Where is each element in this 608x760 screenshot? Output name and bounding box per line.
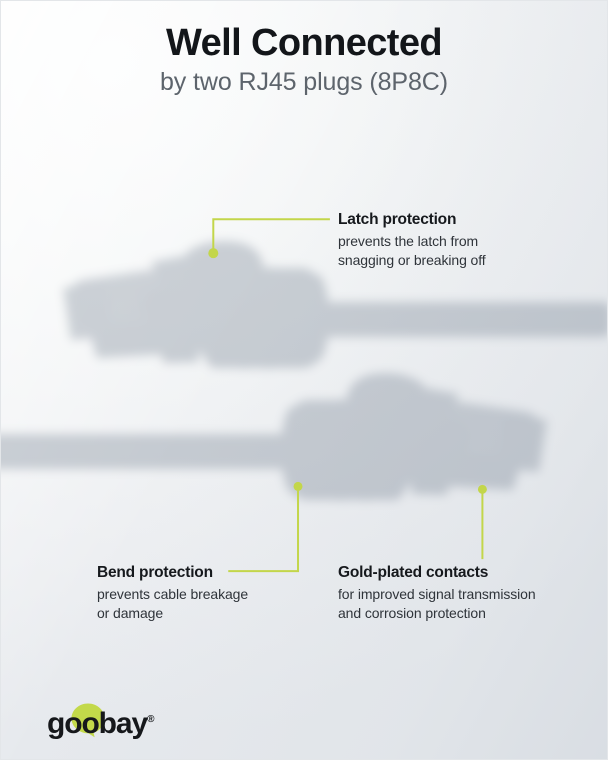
callout-line-2: and corrosion protection xyxy=(338,604,578,624)
page-title: Well Connected xyxy=(1,23,607,63)
gold-contacts-top xyxy=(105,281,153,295)
leader-dot-bend xyxy=(294,482,303,491)
callout-line-2: or damage xyxy=(97,604,312,624)
registered-trademark-symbol: ® xyxy=(147,714,154,725)
leader-dot-gold xyxy=(478,485,487,494)
callout-line-2: snagging or breaking off xyxy=(338,251,568,271)
callout-gold-plated-contacts: Gold-plated contacts for improved signal… xyxy=(338,564,578,624)
logo-wordmark: goobay® xyxy=(47,707,154,740)
product-photo xyxy=(1,1,608,760)
infographic-canvas: Well Connected by two RJ45 plugs (8P8C) … xyxy=(0,0,608,760)
logo-text: goobay xyxy=(47,707,147,740)
leader-line-bend xyxy=(228,486,298,571)
gold-contacts-bottom xyxy=(457,413,505,427)
callout-latch-protection: Latch protection prevents the latch from… xyxy=(338,211,568,271)
goobay-logo: goobay® xyxy=(47,703,154,737)
plug-bottom xyxy=(1,368,547,495)
callout-line-1: for improved signal transmission xyxy=(338,585,578,605)
callout-leader-lines xyxy=(1,1,607,759)
callout-heading: Gold-plated contacts xyxy=(338,564,578,583)
callout-line-1: prevents the latch from xyxy=(338,232,568,252)
callout-heading: Bend protection xyxy=(97,564,312,583)
callout-heading: Latch protection xyxy=(338,211,568,230)
leader-line-latch xyxy=(213,219,330,253)
callout-line-1: prevents cable breakage xyxy=(97,585,312,605)
callout-bend-protection: Bend protection prevents cable breakage … xyxy=(97,564,312,624)
page-subtitle: by two RJ45 plugs (8P8C) xyxy=(1,69,607,97)
latch-protection-top xyxy=(183,236,263,321)
header: Well Connected by two RJ45 plugs (8P8C) xyxy=(1,23,607,97)
latch-protection-bottom xyxy=(347,368,427,453)
bend-protection-top xyxy=(197,263,328,363)
background-sheen xyxy=(1,1,607,759)
bend-protection-bottom xyxy=(282,395,413,495)
leader-dot-latch xyxy=(208,248,218,258)
